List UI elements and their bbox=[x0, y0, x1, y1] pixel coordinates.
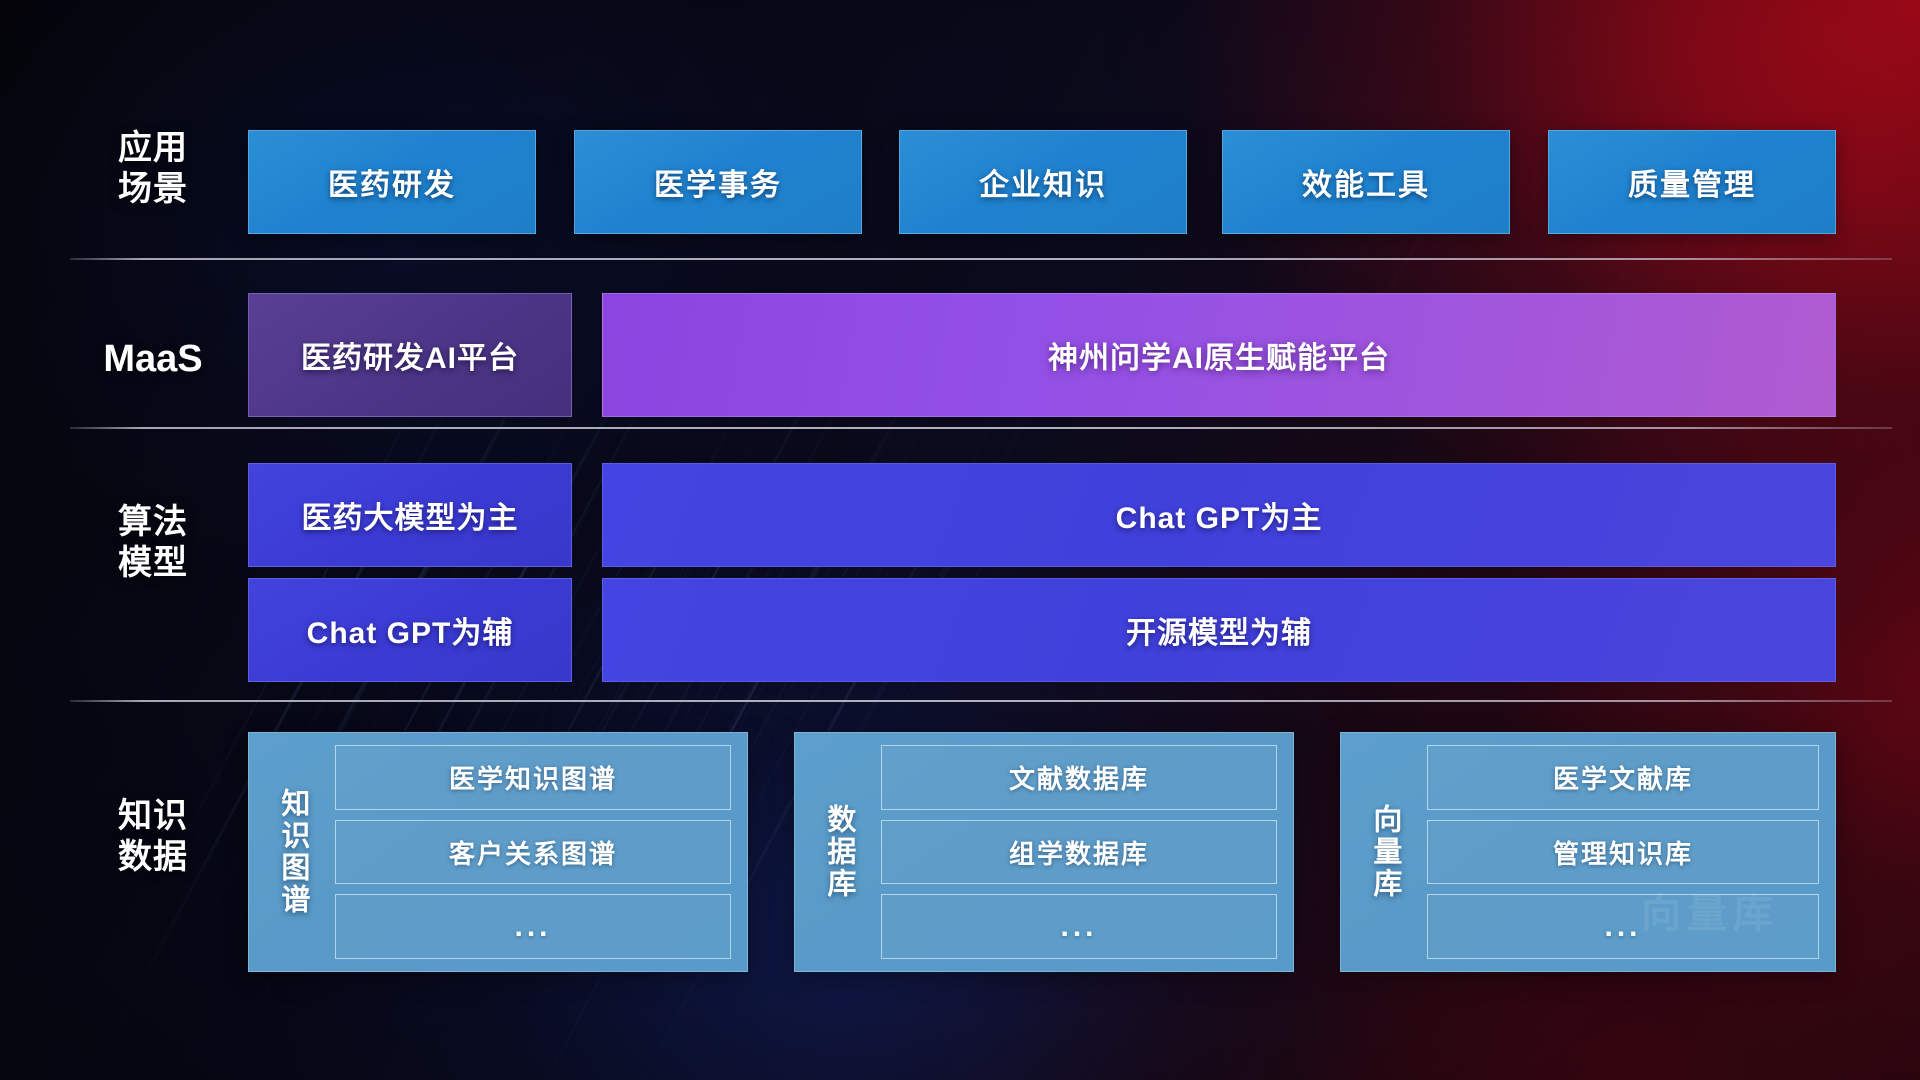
knowledge-group-items-vector-store: 医学文献库 管理知识库 ... bbox=[1413, 745, 1819, 959]
row-label-application: 应用 场景 bbox=[78, 128, 228, 211]
row-label-application-line1: 应用 bbox=[78, 128, 228, 169]
knowledge-item-medical-knowledge-graph[interactable]: 医学知识图谱 bbox=[335, 745, 731, 810]
algo-box-chatgpt-primary[interactable]: Chat GPT为主 bbox=[602, 463, 1836, 567]
knowledge-group-items-database: 文献数据库 组学数据库 ... bbox=[867, 745, 1277, 959]
maas-box-pharma-ai-platform[interactable]: 医药研发AI平台 bbox=[248, 293, 572, 417]
row-label-knowledge-line1: 知识 bbox=[78, 796, 228, 837]
architecture-diagram: 应用 场景 医药研发 医学事务 企业知识 效能工具 质量管理 MaaS 医药研发… bbox=[0, 0, 1920, 1080]
app-box-efficiency-tools[interactable]: 效能工具 bbox=[1222, 130, 1510, 234]
knowledge-group-items-knowledge-graph: 医学知识图谱 客户关系图谱 ... bbox=[321, 745, 731, 959]
knowledge-item-customer-relation-graph[interactable]: 客户关系图谱 bbox=[335, 820, 731, 885]
divider-algorithm-knowledge bbox=[70, 700, 1892, 702]
knowledge-item-more-database[interactable]: ... bbox=[881, 894, 1277, 959]
algo-box-chatgpt-secondary[interactable]: Chat GPT为辅 bbox=[248, 578, 572, 682]
knowledge-group-knowledge-graph: 知识图谱 医学知识图谱 客户关系图谱 ... bbox=[248, 732, 748, 972]
row-label-knowledge-line2: 数据 bbox=[78, 837, 228, 878]
knowledge-item-omics-database[interactable]: 组学数据库 bbox=[881, 820, 1277, 885]
app-box-medical-affairs[interactable]: 医学事务 bbox=[574, 130, 862, 234]
knowledge-group-database: 数据库 文献数据库 组学数据库 ... bbox=[794, 732, 1294, 972]
divider-application-maas bbox=[70, 258, 1892, 260]
knowledge-group-title-vector-store: 向量库 bbox=[1355, 745, 1413, 959]
algo-box-opensource-secondary[interactable]: 开源模型为辅 bbox=[602, 578, 1836, 682]
knowledge-item-more-knowledge-graph[interactable]: ... bbox=[335, 894, 731, 959]
knowledge-item-management-knowledge-store[interactable]: 管理知识库 bbox=[1427, 820, 1819, 885]
row-label-algorithm-line1: 算法 bbox=[78, 502, 228, 543]
knowledge-item-more-vector-store[interactable]: ... bbox=[1427, 894, 1819, 959]
knowledge-item-medical-literature-store[interactable]: 医学文献库 bbox=[1427, 745, 1819, 810]
divider-maas-algorithm bbox=[70, 427, 1892, 429]
app-box-enterprise-knowledge[interactable]: 企业知识 bbox=[899, 130, 1187, 234]
knowledge-item-literature-database[interactable]: 文献数据库 bbox=[881, 745, 1277, 810]
knowledge-group-vector-store: 向量库 医学文献库 管理知识库 ... 向量库 bbox=[1340, 732, 1836, 972]
row-label-application-line2: 场景 bbox=[78, 169, 228, 210]
row-label-algorithm-line2: 模型 bbox=[78, 543, 228, 584]
row-label-knowledge: 知识 数据 bbox=[78, 796, 228, 879]
row-label-algorithm: 算法 模型 bbox=[78, 502, 228, 585]
app-box-quality-management[interactable]: 质量管理 bbox=[1548, 130, 1836, 234]
maas-box-shenzhou-wenxue-platform[interactable]: 神州问学AI原生赋能平台 bbox=[602, 293, 1836, 417]
knowledge-group-title-database: 数据库 bbox=[809, 745, 867, 959]
row-label-maas: MaaS bbox=[78, 336, 228, 382]
algo-box-pharma-llm-primary[interactable]: 医药大模型为主 bbox=[248, 463, 572, 567]
knowledge-group-title-knowledge-graph: 知识图谱 bbox=[263, 745, 321, 959]
app-box-medicine-rd[interactable]: 医药研发 bbox=[248, 130, 536, 234]
